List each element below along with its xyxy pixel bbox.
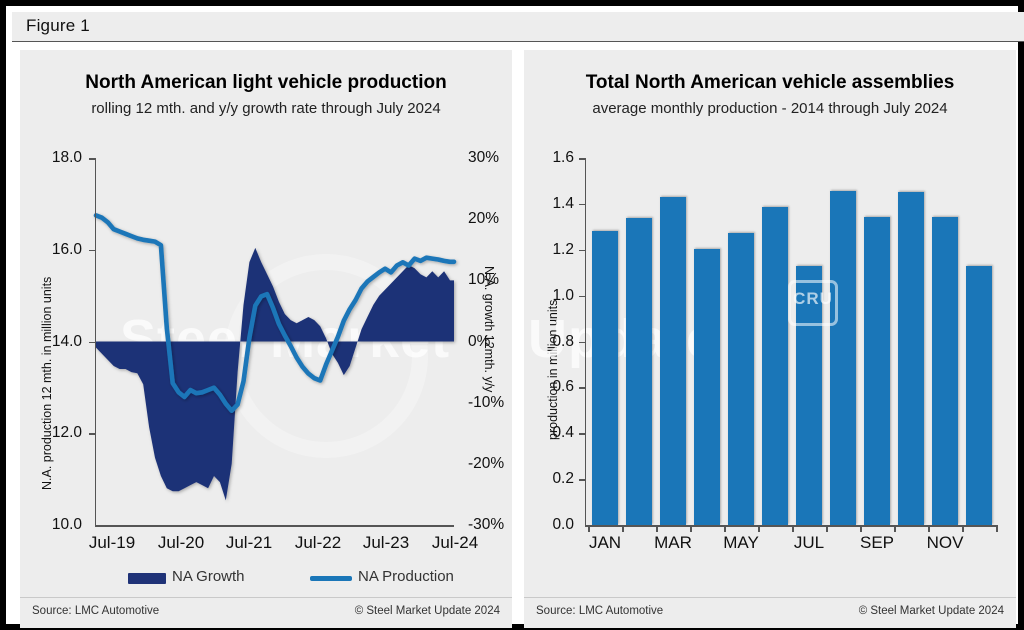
bar-may [728,233,754,525]
na-growth-area [96,248,454,501]
x-tick [860,526,862,532]
x-tick [622,526,624,532]
y-tick [579,296,585,298]
x-tick [690,526,692,532]
x-tick-label: Jul-23 [363,533,409,553]
bar-sep [864,217,890,526]
left-chart-x-axis [95,525,455,527]
y-tick [579,158,585,160]
left-chart-y-axis-title: N.A. production 12 mth. in million units [40,277,54,490]
x-tick [792,526,794,532]
x-tick-label: Jul-21 [226,533,272,553]
bar-jul [796,266,822,525]
bar-apr [694,249,720,525]
left-chart-copyright: © Steel Market Update 2024 [355,605,500,617]
y2-tick-label: 0% [468,333,490,351]
y-tick [89,250,95,252]
x-tick [962,526,964,532]
right-chart-y-axis [585,158,587,525]
y-tick-label: 14.0 [20,333,82,351]
legend-label: NA Production [358,568,454,585]
y-tick [89,433,95,435]
left-chart-plot: Steel Market 18.0 1 [96,158,454,525]
x-tick-label: Jul-24 [432,533,478,553]
na-growth-swatch [128,573,166,584]
right-chart-title: Total North American vehicle assemblies [524,72,1016,94]
y-tick-label: 18.0 [20,149,82,167]
y-tick [89,342,95,344]
y-tick [579,387,585,389]
right-chart-footer: Source: LMC Automotive © Steel Market Up… [524,597,1016,628]
bar-jan [592,231,618,525]
figure-header: Figure 1 [12,12,1024,42]
bar-dec [966,266,992,525]
bar-oct [898,192,924,525]
y-tick-label: 0.0 [524,516,574,534]
na-production-swatch [310,576,352,581]
y-tick-label: 0.6 [524,378,574,396]
y-tick [579,342,585,344]
y2-tick-label: 10% [468,271,499,289]
x-tick [656,526,658,532]
left-chart-series-svg [96,158,454,525]
left-chart-panel: North American light vehicle production … [20,50,512,628]
y-tick [89,158,95,160]
x-tick-label: MAY [723,533,759,553]
right-chart-subtitle: average monthly production - 2014 throug… [524,100,1016,117]
y2-tick-label: 20% [468,210,499,228]
bar-mar [660,197,686,525]
y-tick-label: 12.0 [20,424,82,442]
y2-tick-label: -30% [468,516,504,534]
legend-label: NA Growth [172,568,245,585]
x-tick-label: Jul-22 [295,533,341,553]
y-tick [579,433,585,435]
bar-feb [626,218,652,525]
x-tick-label: SEP [860,533,894,553]
x-tick-label: JUL [794,533,824,553]
x-tick [894,526,896,532]
left-chart-footer: Source: LMC Automotive © Steel Market Up… [20,597,512,628]
x-tick [758,526,760,532]
y2-tick-label: 30% [468,149,499,167]
y-tick [579,204,585,206]
x-tick-label: JAN [589,533,621,553]
right-chart-copyright: © Steel Market Update 2024 [859,605,1004,617]
right-chart-y-axis-title: production in million units [546,300,560,440]
left-chart-source: Source: LMC Automotive [32,605,159,617]
bar-jun [762,207,788,525]
bar-aug [830,191,856,525]
y2-tick-label: -20% [468,455,504,473]
x-tick-label: Jul-20 [158,533,204,553]
y-tick-label: 0.8 [524,333,574,351]
left-chart-title: North American light vehicle production [20,72,512,94]
y-tick-label: 0.2 [524,470,574,488]
x-tick [996,526,998,532]
y-tick-label: 0.4 [524,424,574,442]
x-tick [724,526,726,532]
figure-label: Figure 1 [26,16,90,36]
y-tick-label: 1.6 [524,149,574,167]
x-tick-label: Jul-19 [89,533,135,553]
y-tick [579,250,585,252]
left-chart-y-axis [95,158,97,525]
right-chart-panel: Total North American vehicle assemblies … [524,50,1016,628]
y-tick-label: 1.0 [524,287,574,305]
left-chart-legend: NA Growth NA Production [20,566,512,590]
y2-tick-label: -10% [468,394,504,412]
bar-nov [932,217,958,526]
y-tick-label: 16.0 [20,241,82,259]
x-tick-label: NOV [927,533,964,553]
y-tick-label: 1.2 [524,241,574,259]
left-chart-subtitle: rolling 12 mth. and y/y growth rate thro… [20,100,512,117]
y-tick-label: 1.4 [524,195,574,213]
right-chart-plot: Update CRU [586,158,998,525]
y-tick [579,479,585,481]
figure-frame: Figure 1 North American light vehicle pr… [0,0,1024,630]
x-tick [928,526,930,532]
y-tick-label: 10.0 [20,516,82,534]
x-tick-label: MAR [654,533,692,553]
x-tick [588,526,590,532]
right-chart-source: Source: LMC Automotive [536,605,663,617]
x-tick [826,526,828,532]
